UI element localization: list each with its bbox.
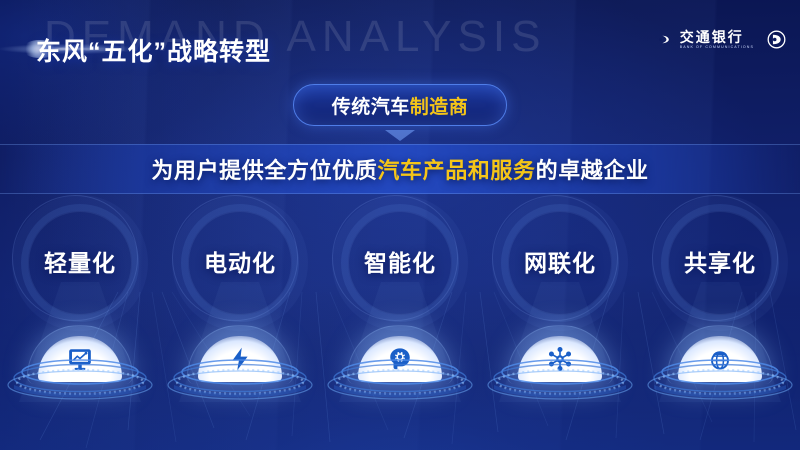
pillar-stage	[6, 324, 154, 402]
pill-banner-text: 传统汽车制造商	[332, 92, 469, 119]
pillar-stage	[646, 324, 794, 402]
statement-band: 为用户提供全方位优质汽车产品和服务的卓越企业	[0, 144, 800, 194]
pillar-item[interactable]: 电动化	[160, 200, 320, 450]
dongfeng-logo-icon	[767, 30, 786, 49]
slide-root: DEMAND ANALYSIS 东风“五化”战略转型 交通银行 BANK OF …	[0, 0, 800, 450]
bocom-logo-icon	[655, 31, 672, 48]
pillars-row: 轻量化	[0, 200, 800, 450]
pillar-base	[326, 358, 474, 402]
pillar-label: 智能化	[320, 244, 480, 278]
pillar-item[interactable]: 共享化	[640, 200, 800, 450]
pillar-label: 轻量化	[0, 244, 160, 278]
brand-name-cn: 交通银行	[680, 30, 754, 44]
statement-band-text: 为用户提供全方位优质汽车产品和服务的卓越企业	[151, 153, 648, 185]
pillar-label: 网联化	[480, 244, 640, 278]
pill-text-highlight: 制造商	[410, 97, 469, 118]
chevron-down-icon	[385, 130, 415, 141]
pill-banner: 传统汽车制造商	[293, 84, 507, 126]
brand-text: 交通银行 BANK OF COMMUNICATIONS	[680, 30, 754, 50]
pillar-stage	[486, 324, 634, 402]
pillar-base	[486, 358, 634, 402]
pillar-base	[646, 358, 794, 402]
pillar-stage	[326, 324, 474, 402]
pillar-label: 共享化	[640, 244, 800, 278]
pillar-label: 电动化	[160, 244, 320, 278]
band-text-prefix: 为用户提供全方位优质	[151, 158, 377, 183]
band-text-highlight: 汽车产品和服务	[377, 158, 535, 183]
pillar-base	[6, 358, 154, 402]
brand-name-en: BANK OF COMMUNICATIONS	[680, 46, 754, 50]
pillar-stage	[166, 324, 314, 402]
pill-text-plain: 传统汽车	[332, 97, 410, 118]
pillar-item[interactable]: 轻量化	[0, 200, 160, 450]
pillar-base	[166, 358, 314, 402]
brand-logo: 交通银行 BANK OF COMMUNICATIONS	[655, 30, 786, 50]
band-text-suffix: 的卓越企业	[536, 158, 649, 183]
pillar-item[interactable]: 智能化	[320, 200, 480, 450]
page-title: 东风“五化”战略转型	[36, 32, 271, 68]
pillar-item[interactable]: 网联化	[480, 200, 640, 450]
